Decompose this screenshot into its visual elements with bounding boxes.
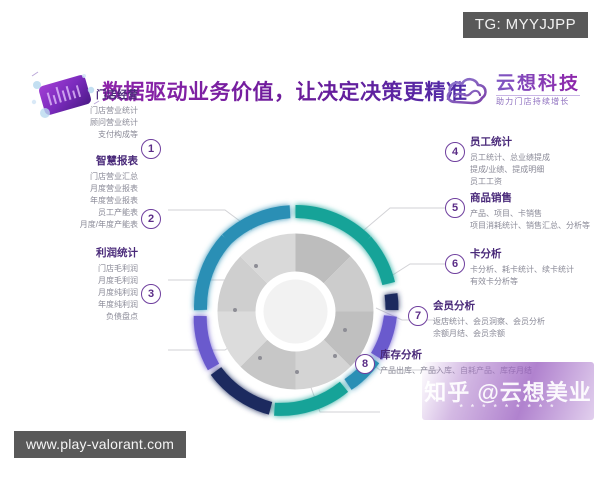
infographic-page: TG: MYYJJPP	[0, 0, 600, 480]
block-line: 余额月结、会员余额	[433, 328, 583, 340]
bullet-number-4[interactable]: 4	[445, 142, 465, 162]
bullet-number-2[interactable]: 2	[141, 209, 161, 229]
block-line: 门店营业汇总	[10, 171, 138, 183]
block-line: 门店毛利润	[10, 263, 138, 275]
block-line: 顾问营业统计	[10, 117, 138, 129]
block-heading: 智慧报表	[10, 154, 138, 170]
block-line: 卡分析、耗卡统计、续卡统计	[470, 264, 600, 276]
bullet-number-8[interactable]: 8	[355, 354, 375, 374]
block-line: 年度营业报表	[10, 195, 138, 207]
logo-name: 云想科技	[496, 74, 580, 94]
info-block-5[interactable]: 商品销售 产品、项目、卡销售 项目消耗统计、销售汇总、分析等	[470, 191, 600, 232]
block-line: 提成/业绩、提成明细	[470, 164, 594, 176]
block-line: 员工产能表	[10, 207, 138, 219]
block-line: 月度毛利润	[10, 275, 138, 287]
block-heading: 员工统计	[470, 135, 594, 151]
block-line: 支付构成等	[10, 129, 138, 141]
bullet-number-5[interactable]: 5	[445, 198, 465, 218]
donut-chart	[178, 194, 413, 429]
block-line: 员工工资	[470, 176, 594, 188]
brand-logo: 云想科技 助力门店持续增长	[444, 68, 580, 114]
block-heading: 会员分析	[433, 299, 583, 315]
block-line: 产品、项目、卡销售	[470, 208, 600, 220]
block-line: 项目消耗统计、销售汇总、分析等	[470, 220, 600, 232]
block-line: 月度/年度产能表	[10, 219, 138, 231]
bullet-number-3[interactable]: 3	[141, 284, 161, 304]
block-heading: 门店经营	[10, 88, 138, 104]
url-watermark-bar: www.play-valorant.com	[14, 431, 186, 458]
info-block-7[interactable]: 会员分析 返店统计、会员洞察、会员分析 余额月结、会员余额	[433, 299, 583, 340]
infographic-card: 数据驱动业务价值，让决定决策更精准 云想科技 助力门店持续增长	[10, 56, 590, 404]
info-block-6[interactable]: 卡分析 卡分析、耗卡统计、续卡统计 有效卡分析等	[470, 247, 600, 288]
block-line: 月度营业报表	[10, 183, 138, 195]
block-heading: 商品销售	[470, 191, 600, 207]
bullet-number-7[interactable]: 7	[408, 306, 428, 326]
logo-tagline: 助力门店持续增长	[496, 95, 580, 107]
watermark-dots: * * * * * * * * *	[460, 403, 557, 412]
page-title: 数据驱动业务价值，让决定决策更精准	[102, 76, 468, 106]
block-line: 月度纯利润	[10, 287, 138, 299]
block-heading: 利润统计	[10, 246, 138, 262]
block-line: 有效卡分析等	[470, 276, 600, 288]
info-block-2[interactable]: 智慧报表 门店营业汇总 月度营业报表 年度营业报表 员工产能表 月度/年度产能表	[10, 154, 138, 232]
info-block-1[interactable]: 门店经营 门店营业统计 顾问营业统计 支付构成等	[10, 88, 138, 141]
tg-watermark-badge: TG: MYYJJPP	[463, 12, 588, 38]
bullet-number-1[interactable]: 1	[141, 139, 161, 159]
bullet-number-6[interactable]: 6	[445, 254, 465, 274]
block-line: 门店营业统计	[10, 105, 138, 117]
block-line: 员工统计、总业绩提成	[470, 152, 594, 164]
cloud-wave-icon	[444, 72, 490, 110]
zhihu-watermark: 知乎 @云想美业 * * * * * * * * *	[422, 362, 594, 420]
block-line: 返店统计、会员洞察、会员分析	[433, 316, 583, 328]
info-block-3[interactable]: 利润统计 门店毛利润 月度毛利润 月度纯利润 年度纯利润 负债盘点	[10, 246, 138, 324]
block-heading: 卡分析	[470, 247, 600, 263]
info-block-4[interactable]: 员工统计 员工统计、总业绩提成 提成/业绩、提成明细 员工工资	[470, 135, 594, 188]
block-line: 年度纯利润	[10, 299, 138, 311]
block-line: 负债盘点	[10, 311, 138, 323]
